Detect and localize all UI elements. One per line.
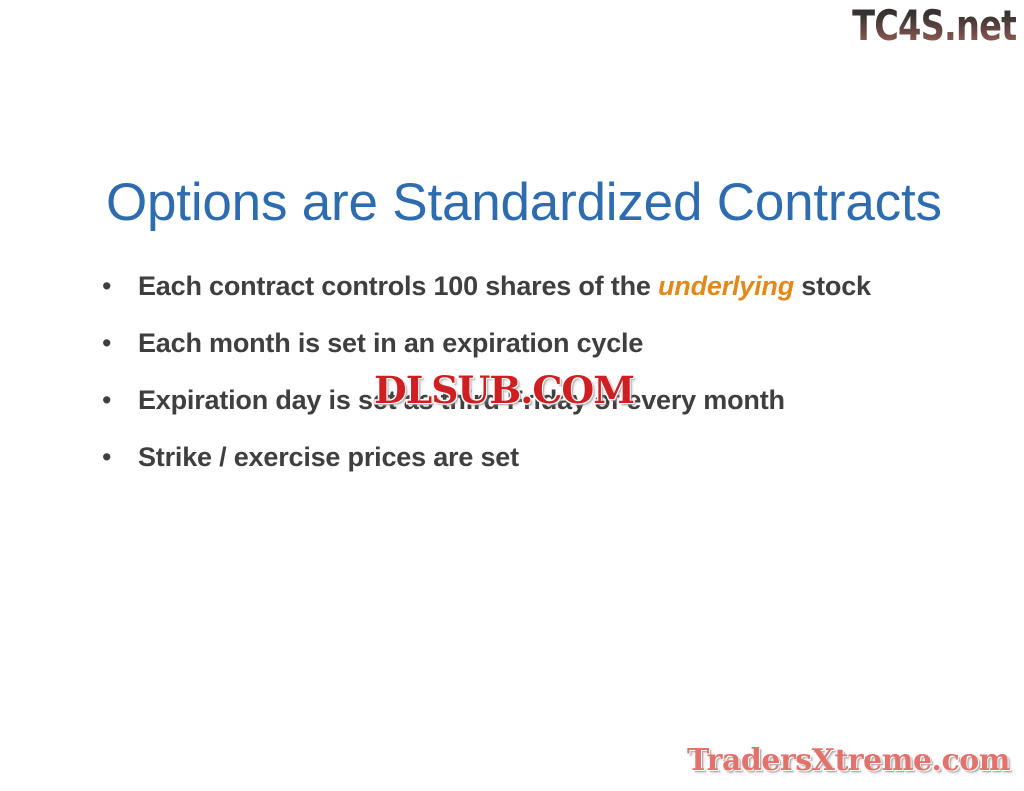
dlsub-watermark: DLSUB.COM xyxy=(374,368,634,412)
bullet-item-1-lead: Each contract controls 100 shares of the xyxy=(138,271,658,301)
bullet-item-1-text: Each contract controls 100 shares of the… xyxy=(138,266,928,307)
list-item: • Each month is set in an expiration cyc… xyxy=(98,323,928,364)
bullet-point-icon: • xyxy=(98,437,138,477)
bullet-point-icon: • xyxy=(98,380,138,420)
tc4s-logo: TC4S.net xyxy=(852,2,1016,50)
page-title: Options are Standardized Contracts xyxy=(106,172,946,234)
bullet-point-icon: • xyxy=(98,323,138,363)
bullet-item-1-trail: stock xyxy=(794,271,871,301)
slide-canvas: TC4S.net Options are Standardized Contra… xyxy=(0,0,1024,791)
tradersxtreme-watermark: TradersXtreme.com xyxy=(687,743,1010,779)
bullet-item-1-emphasis: underlying xyxy=(658,271,794,301)
list-item: • Each contract controls 100 shares of t… xyxy=(98,266,928,307)
bullet-item-2-text: Each month is set in an expiration cycle xyxy=(138,323,928,364)
bullet-point-icon: • xyxy=(98,266,138,306)
bullet-item-4-text: Strike / exercise prices are set xyxy=(138,437,928,478)
list-item: • Strike / exercise prices are set xyxy=(98,437,928,478)
